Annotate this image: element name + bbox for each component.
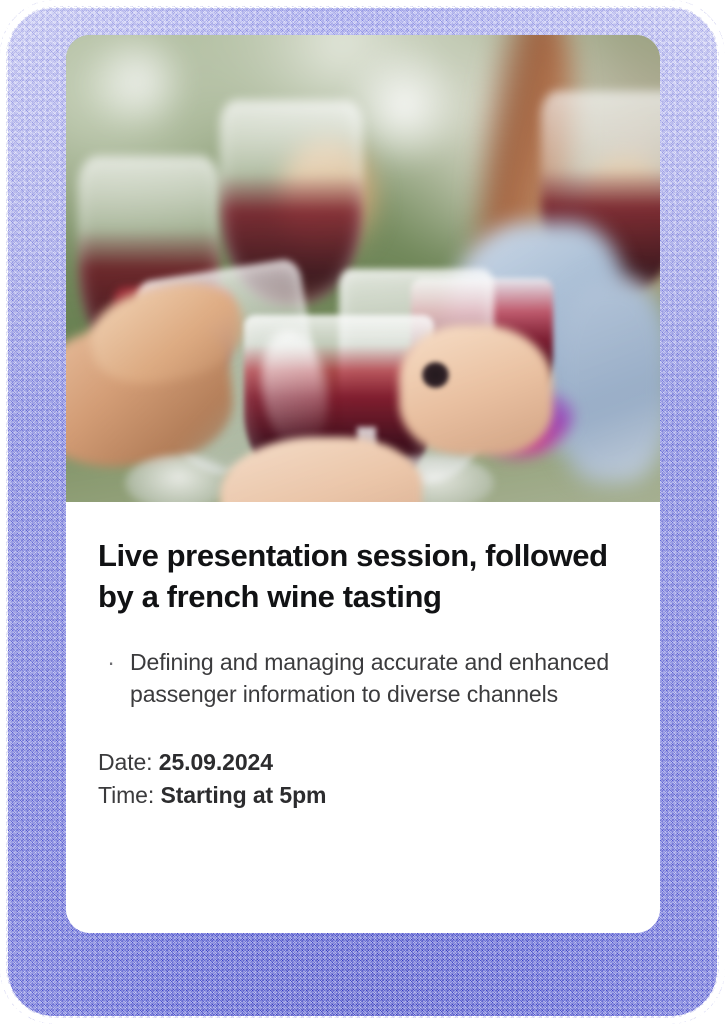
event-date-value: 25.09.2024 — [159, 749, 273, 775]
event-title: Live presentation session, followed by a… — [98, 536, 628, 617]
card-content: Live presentation session, followed by a… — [66, 502, 660, 812]
bullet-text: Defining and managing accurate and enhan… — [130, 647, 628, 710]
event-details: Date: 25.09.2024 Time: Starting at 5pm — [98, 746, 628, 811]
event-card[interactable]: Live presentation session, followed by a… — [66, 35, 660, 933]
event-time-label: Time: — [98, 782, 154, 808]
event-card-frame: Live presentation session, followed by a… — [0, 0, 725, 1024]
bullet-dot-icon: · — [98, 647, 116, 679]
wine-tasting-photo — [66, 35, 660, 502]
event-time-value: Starting at 5pm — [160, 782, 326, 808]
list-item: · Defining and managing accurate and enh… — [98, 647, 628, 710]
photo-soft-vignette — [66, 35, 660, 502]
event-date-label: Date: — [98, 749, 152, 775]
event-description-list: · Defining and managing accurate and enh… — [98, 647, 628, 710]
event-date-row: Date: 25.09.2024 — [98, 746, 628, 779]
event-time-row: Time: Starting at 5pm — [98, 779, 628, 812]
